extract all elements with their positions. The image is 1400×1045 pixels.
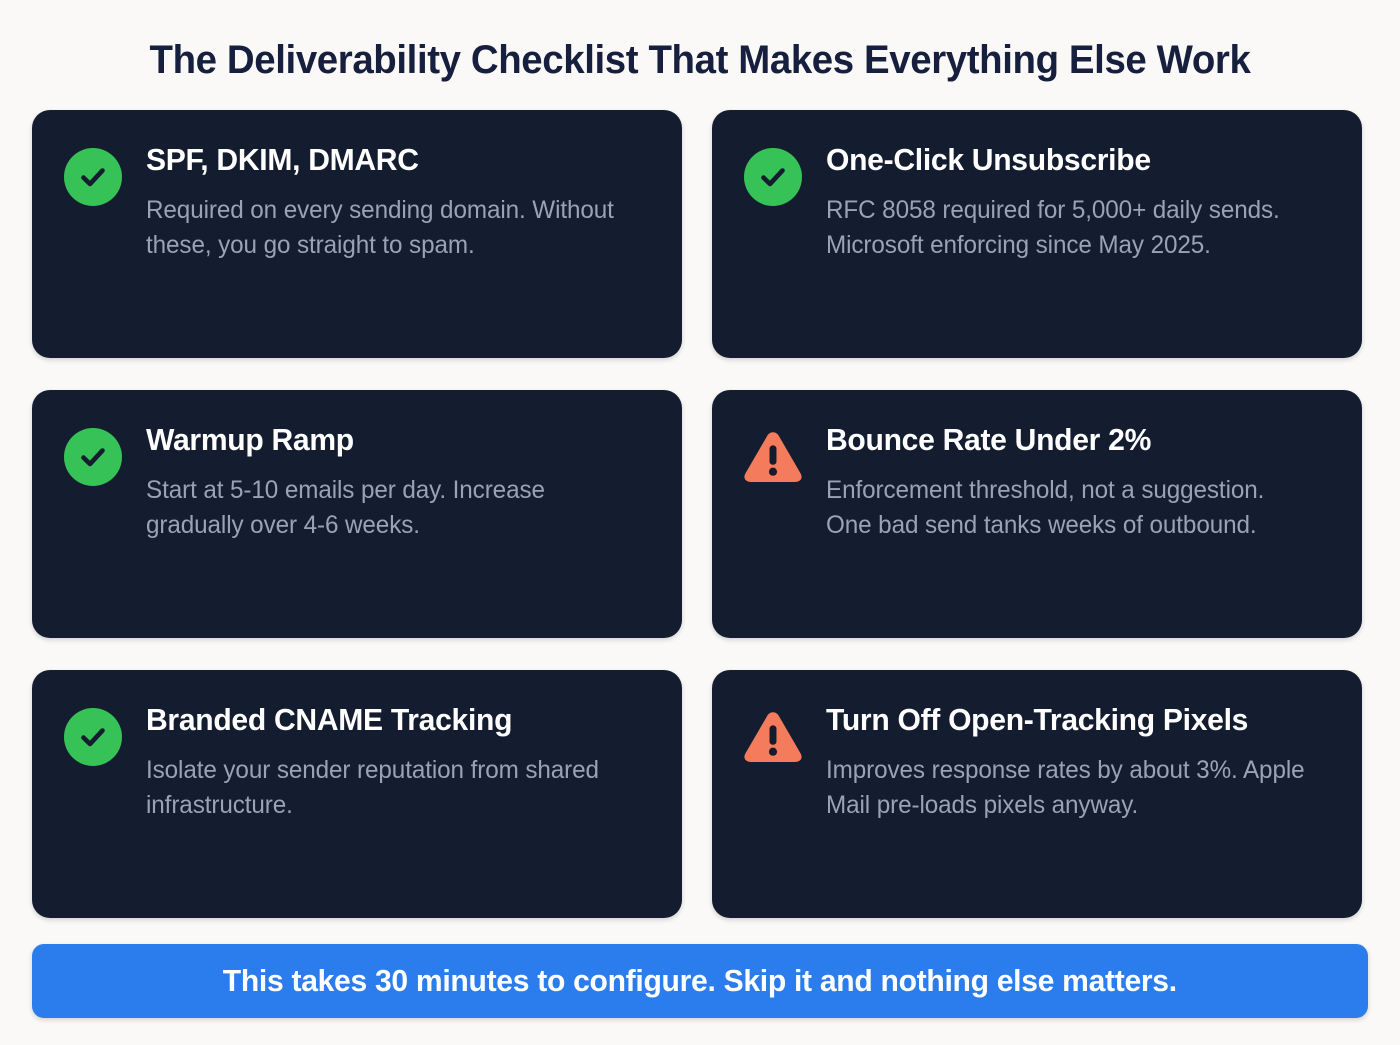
checklist-card: Turn Off Open-Tracking Pixels Improves r…: [712, 670, 1362, 918]
card-body: Warmup Ramp Start at 5-10 emails per day…: [146, 420, 648, 544]
card-body: Branded CNAME Tracking Isolate your send…: [146, 700, 648, 824]
card-body: Turn Off Open-Tracking Pixels Improves r…: [826, 700, 1328, 824]
card-icon-slot: [62, 706, 124, 768]
check-circle-icon: [64, 428, 122, 486]
card-body: Bounce Rate Under 2% Enforcement thresho…: [826, 420, 1328, 544]
card-description: Enforcement threshold, not a suggestion.…: [826, 473, 1313, 544]
checklist-card: SPF, DKIM, DMARC Required on every sendi…: [32, 110, 682, 358]
card-description: Isolate your sender reputation from shar…: [146, 753, 633, 824]
card-title: SPF, DKIM, DMARC: [146, 142, 633, 179]
card-title: Bounce Rate Under 2%: [826, 422, 1313, 459]
card-title: One-Click Unsubscribe: [826, 142, 1313, 179]
card-icon-slot: [62, 426, 124, 488]
warning-triangle-icon: [742, 428, 804, 486]
page-title: The Deliverability Checklist That Makes …: [59, 0, 1342, 80]
checklist-card: Warmup Ramp Start at 5-10 emails per day…: [32, 390, 682, 638]
card-description: RFC 8058 required for 5,000+ daily sends…: [826, 193, 1313, 264]
footer-callout-banner: This takes 30 minutes to configure. Skip…: [32, 944, 1368, 1018]
card-title: Branded CNAME Tracking: [146, 702, 633, 739]
footer-callout-text: This takes 30 minutes to configure. Skip…: [223, 963, 1177, 999]
check-circle-icon: [64, 708, 122, 766]
checklist-card: Bounce Rate Under 2% Enforcement thresho…: [712, 390, 1362, 638]
warning-triangle-icon: [742, 708, 804, 766]
checklist-infographic: The Deliverability Checklist That Makes …: [0, 0, 1400, 1045]
checklist-card: One-Click Unsubscribe RFC 8058 required …: [712, 110, 1362, 358]
card-description: Improves response rates by about 3%. App…: [826, 753, 1313, 824]
checklist-card-grid: SPF, DKIM, DMARC Required on every sendi…: [32, 110, 1368, 918]
card-description: Required on every sending domain. Withou…: [146, 193, 633, 264]
card-icon-slot: [742, 426, 804, 488]
check-circle-icon: [744, 148, 802, 206]
card-body: SPF, DKIM, DMARC Required on every sendi…: [146, 140, 648, 264]
card-icon-slot: [62, 146, 124, 208]
checklist-card: Branded CNAME Tracking Isolate your send…: [32, 670, 682, 918]
card-title: Turn Off Open-Tracking Pixels: [826, 702, 1313, 739]
card-body: One-Click Unsubscribe RFC 8058 required …: [826, 140, 1328, 264]
card-description: Start at 5-10 emails per day. Increase g…: [146, 473, 633, 544]
card-title: Warmup Ramp: [146, 422, 633, 459]
card-icon-slot: [742, 146, 804, 208]
card-icon-slot: [742, 706, 804, 768]
check-circle-icon: [64, 148, 122, 206]
